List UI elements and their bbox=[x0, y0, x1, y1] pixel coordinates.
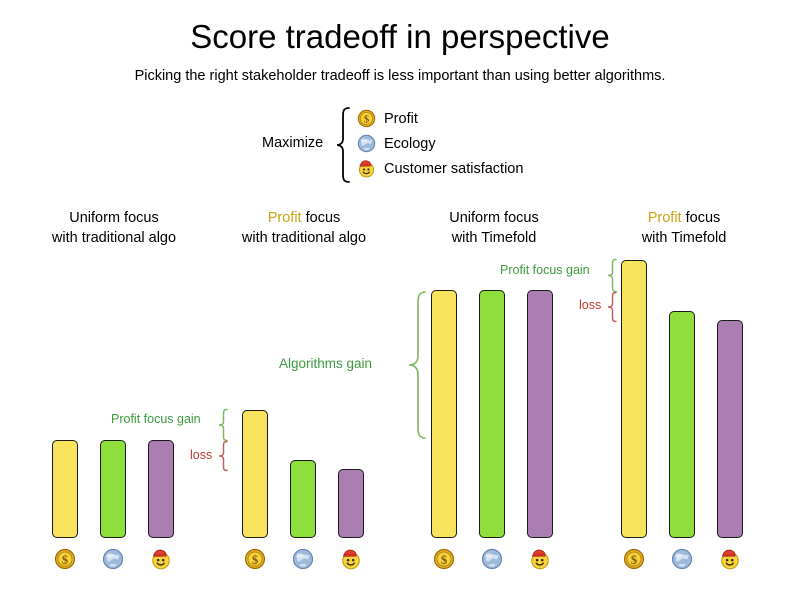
legend-label-customer: Customer satisfaction bbox=[384, 161, 523, 177]
bar-profit-timefold-customer bbox=[717, 320, 743, 538]
bar-profit-timefold-profit bbox=[621, 260, 647, 538]
smiley-cap-icon bbox=[356, 159, 376, 179]
page-title: Score tradeoff in perspective bbox=[0, 18, 800, 56]
group-caption-line2: with traditional algo bbox=[14, 228, 214, 248]
axis-icon-smiley-cap bbox=[150, 548, 172, 570]
axis-icon-smiley-cap bbox=[719, 548, 741, 570]
group-caption-uniform-timefold: Uniform focus with Timefold bbox=[394, 208, 594, 248]
axis-icon-smiley-cap bbox=[340, 548, 362, 570]
group-caption-profit-traditional: Profit focus with traditional algo bbox=[204, 208, 404, 248]
page-subtitle: Picking the right stakeholder tradeoff i… bbox=[0, 68, 800, 84]
axis-icon-globe bbox=[671, 548, 693, 570]
legend-label-ecology: Ecology bbox=[384, 136, 436, 152]
legend-items: $ Profit Ecology bbox=[356, 106, 523, 181]
bar-uniform-timefold-ecology bbox=[479, 290, 505, 538]
axis-icon-smiley-cap bbox=[529, 548, 551, 570]
globe-icon bbox=[356, 134, 376, 154]
bar-uniform-traditional-ecology bbox=[100, 440, 126, 538]
group-caption-line1: Uniform focus bbox=[14, 208, 214, 228]
axis-icon-money-bag: $ bbox=[623, 548, 645, 570]
legend-label-profit: Profit bbox=[384, 111, 418, 127]
group-caption-profit-timefold: Profit focus with Timefold bbox=[584, 208, 784, 248]
highlight-profit: Profit bbox=[268, 210, 302, 226]
annotation-loss: loss bbox=[190, 448, 212, 462]
group-caption-line2: with traditional algo bbox=[204, 228, 404, 248]
legend-item-customer: Customer satisfaction bbox=[356, 156, 523, 181]
bar-uniform-traditional-customer bbox=[148, 440, 174, 538]
svg-text:$: $ bbox=[62, 553, 68, 567]
bar-profit-traditional-ecology bbox=[290, 460, 316, 538]
axis-icon-money-bag: $ bbox=[433, 548, 455, 570]
group-caption-line1: Profit focus bbox=[204, 208, 404, 228]
axis-icon-money-bag: $ bbox=[244, 548, 266, 570]
group-caption-uniform-traditional: Uniform focus with traditional algo bbox=[14, 208, 214, 248]
bar-uniform-timefold-customer bbox=[527, 290, 553, 538]
svg-text:$: $ bbox=[363, 114, 369, 126]
annotation-algorithms-gain: Algorithms gain bbox=[279, 356, 372, 371]
axis-icon-globe bbox=[292, 548, 314, 570]
group-caption-line1: Profit focus bbox=[584, 208, 784, 228]
annotation-profit-focus-gain: Profit focus gain bbox=[111, 412, 201, 426]
bar-uniform-timefold-profit bbox=[431, 290, 457, 538]
legend: Maximize $ Profit bbox=[262, 106, 562, 186]
bar-profit-timefold-ecology bbox=[669, 311, 695, 538]
axis-icon-globe bbox=[102, 548, 124, 570]
brace-loss-icon bbox=[216, 440, 230, 472]
brace-profit-focus-gain-icon bbox=[605, 258, 619, 293]
bar-uniform-traditional-profit bbox=[52, 440, 78, 538]
annotation-profit-focus-gain: Profit focus gain bbox=[500, 263, 590, 277]
svg-text:$: $ bbox=[441, 553, 447, 567]
bar-profit-traditional-profit bbox=[242, 410, 268, 538]
chart-canvas: Score tradeoff in perspective Picking th… bbox=[0, 0, 800, 600]
group-caption-line2: with Timefold bbox=[394, 228, 594, 248]
annotation-loss: loss bbox=[579, 298, 601, 312]
legend-title: Maximize bbox=[262, 135, 323, 151]
legend-item-profit: $ Profit bbox=[356, 106, 523, 131]
group-caption-line2: with Timefold bbox=[584, 228, 784, 248]
brace-algorithms-gain-icon bbox=[406, 290, 428, 440]
money-bag-icon: $ bbox=[356, 109, 376, 129]
legend-brace-icon bbox=[334, 106, 352, 184]
group-caption-line1: Uniform focus bbox=[394, 208, 594, 228]
brace-profit-focus-gain-icon bbox=[216, 408, 230, 442]
axis-icon-globe bbox=[481, 548, 503, 570]
highlight-profit: Profit bbox=[648, 210, 682, 226]
axis-icon-money-bag: $ bbox=[54, 548, 76, 570]
svg-text:$: $ bbox=[252, 553, 258, 567]
svg-text:$: $ bbox=[631, 553, 637, 567]
bar-profit-traditional-customer bbox=[338, 469, 364, 538]
legend-item-ecology: Ecology bbox=[356, 131, 523, 156]
brace-loss-icon bbox=[605, 291, 619, 323]
